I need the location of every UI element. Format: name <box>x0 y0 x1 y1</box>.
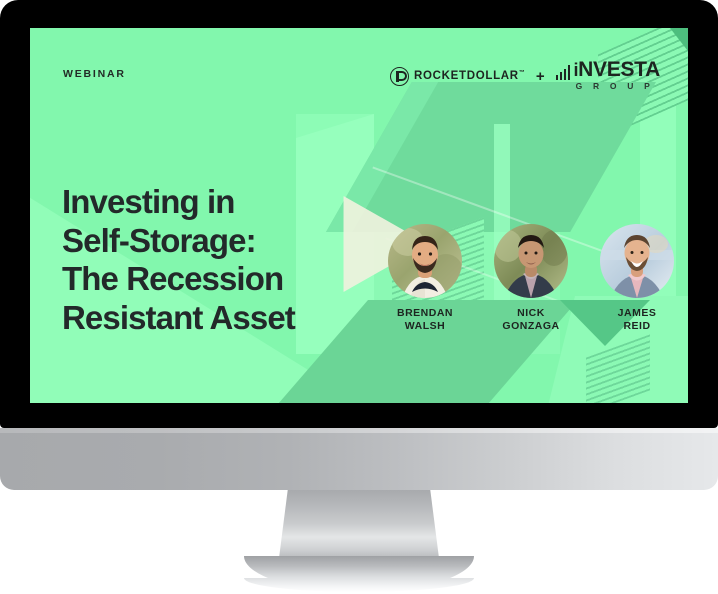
chin-sheen <box>0 428 718 433</box>
speaker-list: BRENDAN WALSH <box>378 224 684 333</box>
headline-line-2: Self-Storage: <box>62 222 392 261</box>
eyebrow-label: WEBINAR <box>63 68 126 80</box>
logo-row: ROCKETDOLLAR™ + iNVESTA G R O U P <box>390 60 660 93</box>
investa-logo-top: iNVESTA <box>556 60 660 80</box>
rocketdollar-name: ROCKETDOLLAR <box>414 70 519 82</box>
speaker-last-name: GONZAGA <box>502 320 559 332</box>
page-title: Investing in Self-Storage: The Recession… <box>62 183 392 337</box>
speaker-first-name: NICK <box>517 307 545 319</box>
headline-line-1: Investing in <box>62 183 392 222</box>
speaker-name: NICK GONZAGA <box>484 307 578 333</box>
speaker-item: BRENDAN WALSH <box>378 224 472 333</box>
monitor-stand-base-rim <box>244 578 474 592</box>
headline-line-3: The Recession <box>62 260 392 299</box>
bar-chart-icon <box>556 65 571 80</box>
investa-subtitle: G R O U P <box>556 81 660 91</box>
speaker-item: NICK GONZAGA <box>484 224 578 333</box>
investa-group-logo: iNVESTA G R O U P <box>556 60 660 93</box>
speaker-last-name: WALSH <box>405 320 445 332</box>
monitor-screen: WEBINAR ROCKETDOLLAR™ + iNVESTA G R O U … <box>30 28 688 403</box>
headshot-james-reid <box>600 224 674 298</box>
headshot-brendan-walsh <box>388 224 462 298</box>
headline-line-4: Resistant Asset <box>62 299 392 338</box>
speaker-item: JAMES REID <box>590 224 684 333</box>
speaker-name: BRENDAN WALSH <box>378 307 472 333</box>
rocketdollar-trademark: ™ <box>519 71 525 77</box>
monitor-stand-neck <box>278 490 440 566</box>
investa-name-rest: NVESTA <box>578 58 660 81</box>
screenshot-stage: WEBINAR ROCKETDOLLAR™ + iNVESTA G R O U … <box>0 0 718 594</box>
headshot-nick-gonzaga <box>494 224 568 298</box>
speaker-first-name: JAMES <box>618 307 657 319</box>
rocketdollar-circle-icon <box>390 67 409 86</box>
rocketdollar-wordmark: ROCKETDOLLAR™ <box>414 70 525 82</box>
speaker-first-name: BRENDAN <box>397 307 453 319</box>
logo-conjunction: + <box>534 69 547 84</box>
monitor-chin <box>0 428 718 490</box>
speaker-name: JAMES REID <box>590 307 684 333</box>
slide-content: WEBINAR ROCKETDOLLAR™ + iNVESTA G R O U … <box>30 28 688 403</box>
speaker-last-name: REID <box>623 320 650 332</box>
rocketdollar-logo: ROCKETDOLLAR™ <box>390 67 525 86</box>
investa-wordmark: iNVESTA <box>573 60 660 80</box>
